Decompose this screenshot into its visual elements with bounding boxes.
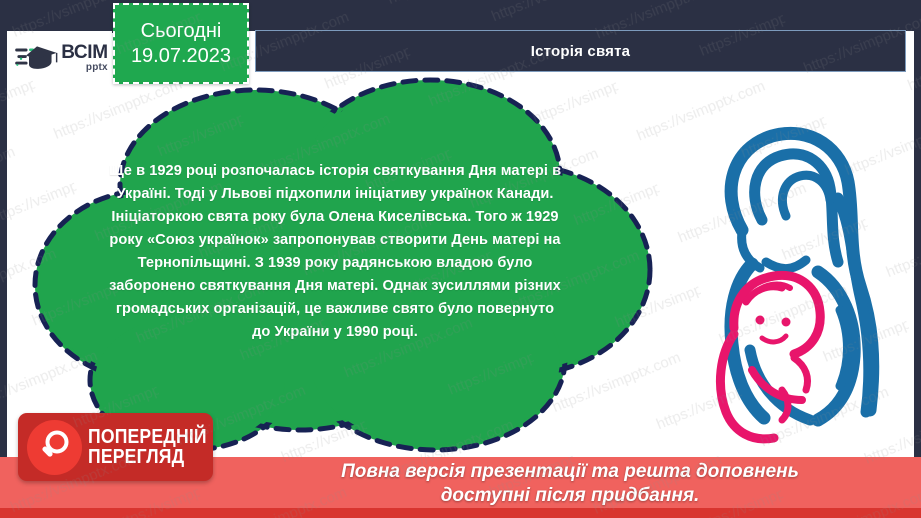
slide-title-bar: Історія свята: [255, 30, 906, 72]
today-label: Сьогодні: [141, 20, 222, 43]
purchase-notice-line1: Повна версія презентації та решта доповн…: [240, 460, 900, 484]
preview-label-line2: ПЕРЕГЛЯД: [88, 447, 207, 467]
magnifier-icon: [27, 420, 82, 475]
page-title: Історія свята: [531, 43, 630, 60]
body-paragraph: Ще в 1929 році розпочалась історія святк…: [105, 160, 565, 344]
bottom-accent-strip: [0, 508, 921, 518]
purchase-notice-line2: доступні після придбання.: [240, 484, 900, 508]
preview-label-line1: ПОПЕРЕДНІЙ: [88, 427, 207, 447]
slide-root: ВСІМ pptx Сьогодні 19.07.2023 Історія св…: [0, 0, 921, 518]
mother-and-child-illustration: [690, 120, 905, 450]
preview-badge: ПОПЕРЕДНІЙ ПЕРЕГЛЯД: [18, 413, 213, 481]
today-date-badge: Сьогодні 19.07.2023: [113, 3, 249, 84]
today-date: 19.07.2023: [131, 45, 231, 68]
